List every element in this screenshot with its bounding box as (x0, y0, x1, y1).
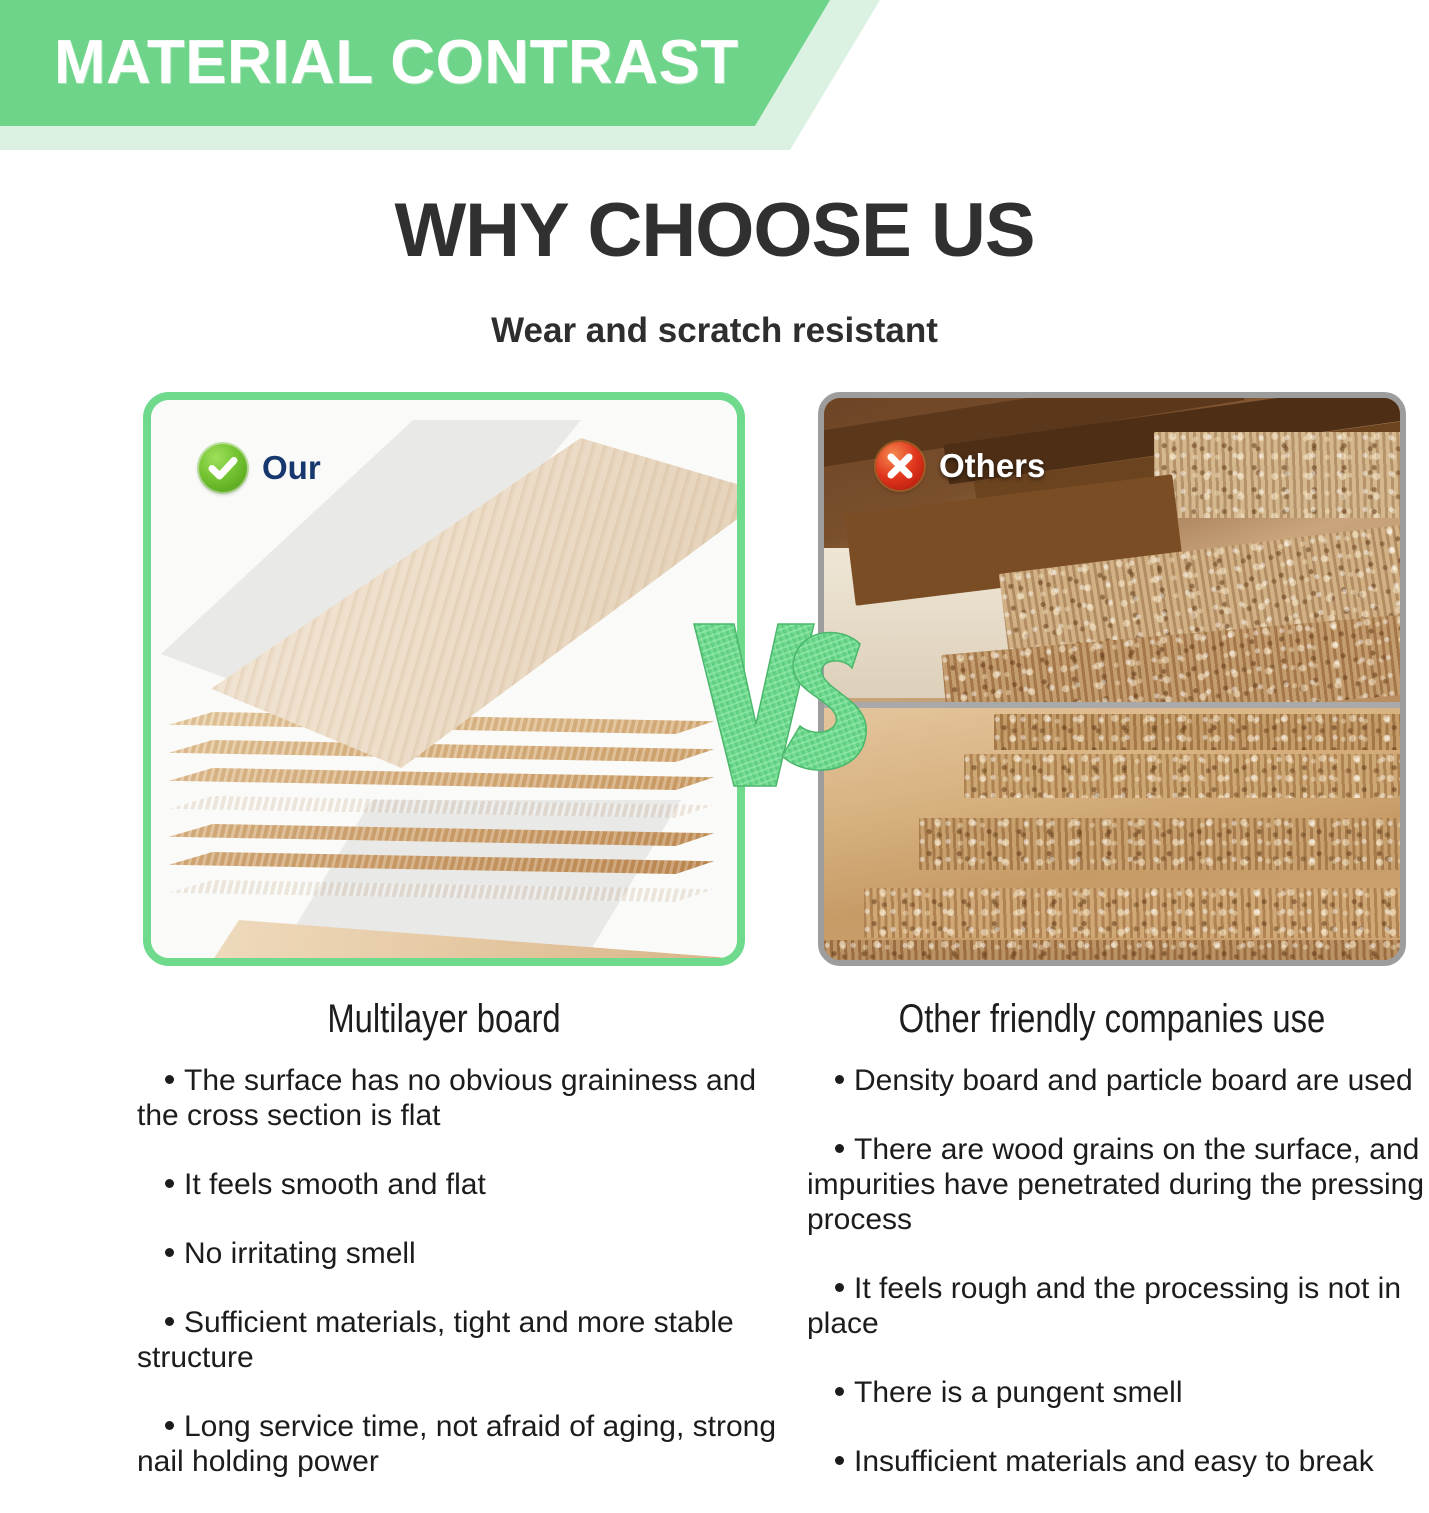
ours-feature-list: The surface has no obvious graininess an… (137, 1063, 777, 1513)
bullet-dot (165, 1075, 174, 1084)
list-item: Density board and particle board are use… (807, 1063, 1429, 1098)
others-image-panel: Others (818, 392, 1406, 966)
bullet-dot (165, 1179, 174, 1188)
x-circle-icon (876, 442, 924, 490)
list-item-text: Sufficient materials, tight and more sta… (137, 1306, 734, 1374)
bullet-dot (835, 1387, 844, 1396)
board-layer (169, 740, 714, 762)
bullet-dot (165, 1317, 174, 1326)
ours-badge: Our (199, 444, 321, 492)
ours-image-panel: Our (143, 392, 745, 966)
versus-icon (690, 604, 870, 794)
board-slab (824, 940, 1400, 960)
board-layer (169, 768, 714, 790)
page-title: WHY CHOOSE US (0, 188, 1429, 274)
list-item-text: There is a pungent smell (854, 1376, 1183, 1409)
board-slab (919, 818, 1400, 870)
list-item: There is a pungent smell (807, 1375, 1429, 1410)
board-slab (964, 754, 1400, 798)
list-item-text: Density board and particle board are use… (854, 1064, 1413, 1097)
bullet-dot (835, 1283, 844, 1292)
list-item-text: No irritating smell (184, 1237, 416, 1270)
list-item: There are wood grains on the surface, an… (807, 1132, 1429, 1237)
list-item: Sufficient materials, tight and more sta… (137, 1305, 777, 1375)
check-circle-icon (199, 444, 247, 492)
bullet-dot (835, 1456, 844, 1465)
header-banner: MATERIAL CONTRAST (0, 0, 900, 155)
others-badge: Others (876, 442, 1045, 490)
others-badge-label: Others (939, 442, 1045, 490)
list-item-text: There are wood grains on the surface, an… (807, 1133, 1424, 1236)
board-slab (1154, 432, 1400, 518)
list-item: The surface has no obvious graininess an… (137, 1063, 777, 1133)
banner-title: MATERIAL CONTRAST (54, 18, 739, 108)
list-item-text: It feels rough and the processing is not… (807, 1272, 1401, 1340)
list-item-text: Insufficient materials and easy to break (854, 1445, 1374, 1478)
bullet-dot (165, 1248, 174, 1257)
ours-caption: Multilayer board (197, 993, 691, 1045)
list-item: Long service time, not afraid of aging, … (137, 1409, 777, 1479)
board-slab (864, 888, 1400, 938)
bullet-dot (165, 1421, 174, 1430)
list-item-text: Long service time, not afraid of aging, … (137, 1410, 776, 1478)
list-item: It feels rough and the processing is not… (807, 1271, 1429, 1341)
list-item: No irritating smell (137, 1236, 777, 1271)
particle-board-photo-bottom (824, 708, 1400, 960)
bullet-dot (835, 1075, 844, 1084)
board-slab (994, 714, 1400, 750)
others-feature-list: Density board and particle board are use… (807, 1063, 1429, 1513)
list-item-text: It feels smooth and flat (184, 1168, 486, 1201)
list-item-text: The surface has no obvious graininess an… (137, 1064, 756, 1132)
bullet-dot (835, 1144, 844, 1153)
list-item: It feels smooth and flat (137, 1167, 777, 1202)
list-item: Insufficient materials and easy to break (807, 1444, 1429, 1479)
ours-badge-label: Our (262, 444, 321, 492)
others-caption: Other friendly companies use (871, 993, 1353, 1045)
page-subtitle: Wear and scratch resistant (0, 307, 1429, 355)
